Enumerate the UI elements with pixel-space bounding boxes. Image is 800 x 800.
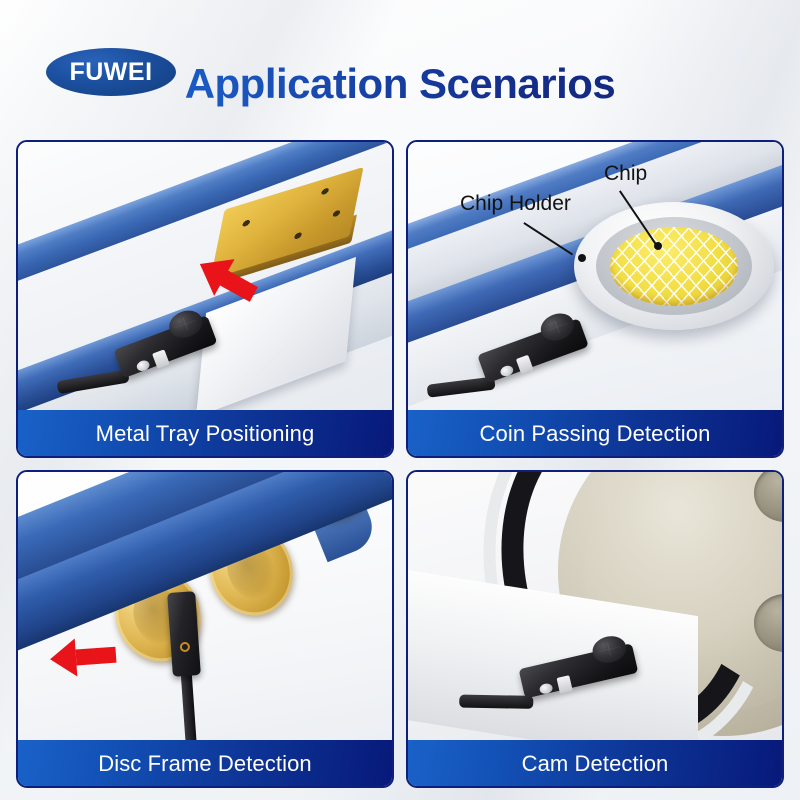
poster-canvas: FUWEI Application Scenarios	[0, 0, 800, 800]
sensor-led-indicator	[135, 359, 151, 373]
scenario-caption: Disc Frame Detection	[17, 740, 393, 787]
scenario-grid: Metal Tray Positioning	[16, 140, 784, 786]
silicon-wafer-chip	[610, 227, 738, 306]
scenario-illustration-cam	[408, 472, 782, 740]
annotation-label-chip-holder: Chip Holder	[460, 192, 571, 216]
sensor-label	[556, 675, 572, 694]
scenario-card-metal-tray-positioning[interactable]: Metal Tray Positioning	[16, 140, 394, 458]
scenario-illustration-metal-tray	[18, 142, 392, 410]
arrow-shaft	[75, 647, 116, 666]
scenario-card-disc-frame-detection[interactable]: Disc Frame Detection	[16, 470, 394, 788]
page-title: Application Scenarios	[0, 60, 800, 108]
sensor-led-indicator	[499, 364, 515, 378]
scenario-caption: Cam Detection	[407, 740, 783, 787]
direction-arrow-icon	[49, 636, 117, 679]
sensor-label	[516, 355, 534, 374]
scenario-card-cam-detection[interactable]: Cam Detection	[406, 470, 784, 788]
sensor-cable	[459, 695, 533, 709]
arrow-head	[49, 639, 78, 679]
annotation-point-chip-holder	[578, 254, 586, 262]
annotation-label-chip: Chip	[604, 162, 647, 186]
scenario-card-coin-passing-detection[interactable]: Chip Holder Chip Coin Passing Detection	[406, 140, 784, 458]
scenario-illustration-coin-passing: Chip Holder Chip	[408, 142, 782, 410]
scenario-caption: Metal Tray Positioning	[17, 410, 393, 457]
scenario-illustration-disc-frame	[18, 472, 392, 740]
chip-holder-disc	[574, 202, 774, 330]
sensor-led-indicator	[539, 682, 554, 695]
sensor-led-indicator	[180, 642, 191, 653]
sensor-label	[152, 349, 170, 369]
sensor-body	[167, 591, 201, 677]
slim-proximity-sensor	[167, 591, 201, 677]
scenario-caption: Coin Passing Detection	[407, 410, 783, 457]
gold-metal-tray	[226, 186, 348, 260]
header: FUWEI Application Scenarios	[0, 0, 800, 132]
annotation-point-chip	[654, 242, 662, 250]
